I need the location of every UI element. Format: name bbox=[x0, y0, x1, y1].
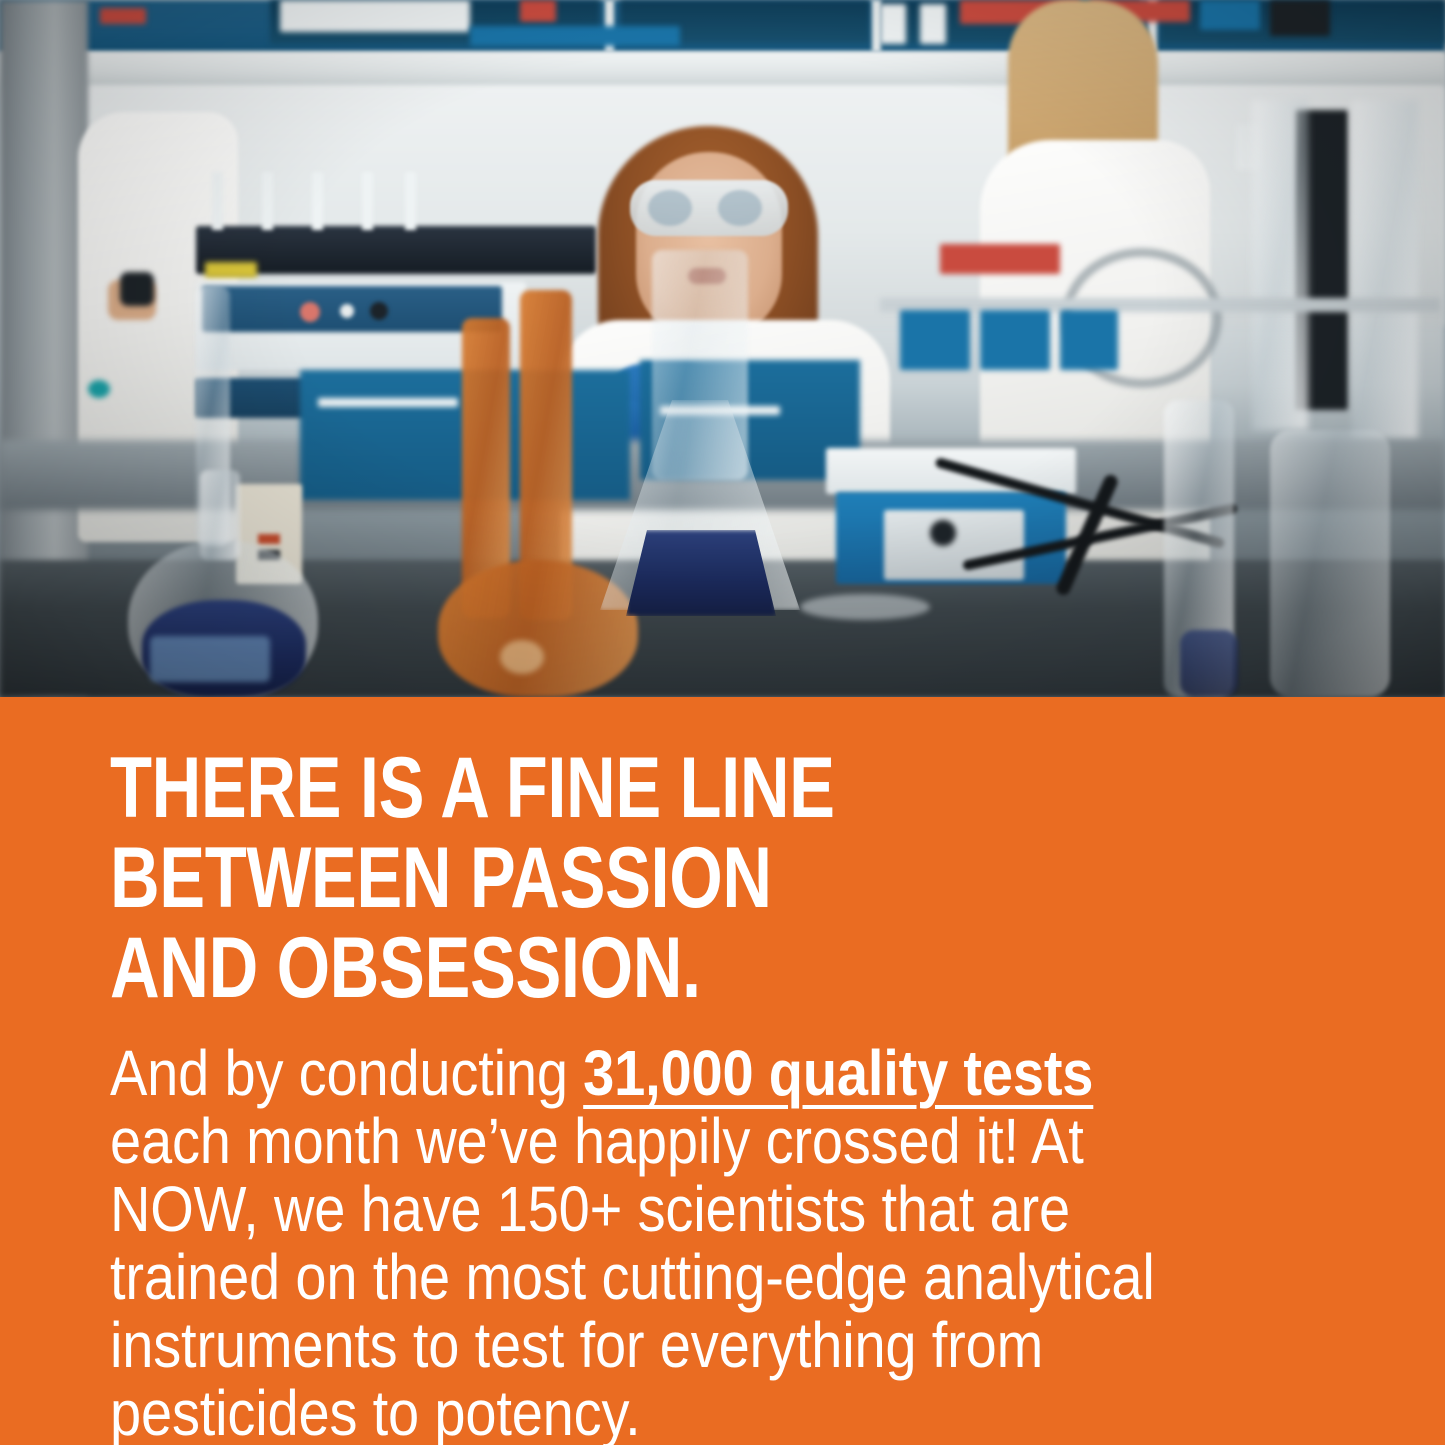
body-text-before: And by conducting bbox=[110, 1037, 583, 1109]
quality-tests-highlight: 31,000 quality tests bbox=[583, 1037, 1093, 1109]
page-title: THERE IS A FINE LINE BETWEEN PASSION AND… bbox=[110, 743, 1118, 1013]
photo-vignette bbox=[0, 0, 1445, 697]
lab-photo bbox=[0, 0, 1445, 697]
body-paragraph: And by conducting 31,000 quality tests e… bbox=[110, 1039, 1173, 1445]
marketing-poster: THERE IS A FINE LINE BETWEEN PASSION AND… bbox=[0, 0, 1445, 1445]
headline-line-2: BETWEEN PASSION bbox=[110, 833, 1118, 923]
orange-text-panel: THERE IS A FINE LINE BETWEEN PASSION AND… bbox=[0, 697, 1445, 1445]
headline-line-1: THERE IS A FINE LINE bbox=[110, 743, 1118, 833]
headline-line-3: AND OBSESSION. bbox=[110, 923, 1118, 1013]
body-text-after: each month we’ve happily crossed it! At … bbox=[110, 1105, 1155, 1445]
